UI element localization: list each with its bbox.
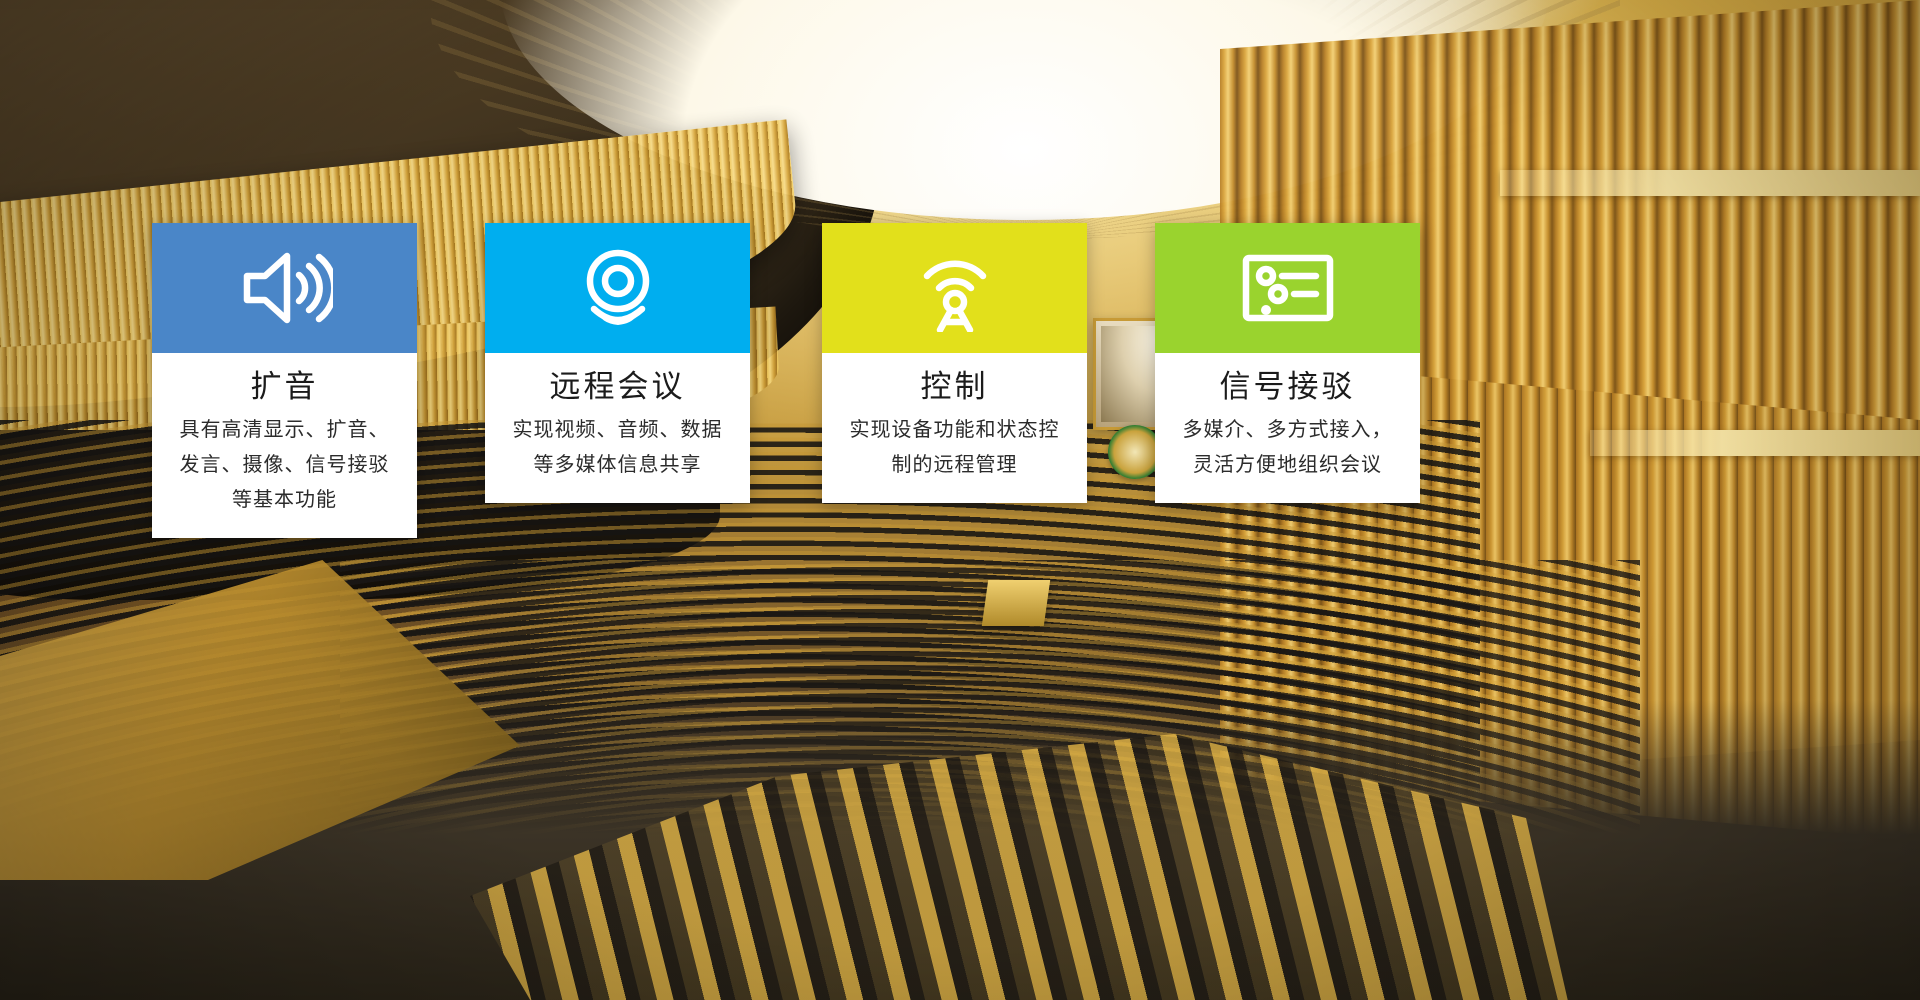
card-header-signal-connection: [1155, 223, 1420, 353]
card-body-signal-connection: 信号接驳 多媒介、多方式接入，灵活方便地组织会议: [1155, 353, 1420, 503]
feature-card-remote-conference[interactable]: 远程会议 实现视频、音频、数据等多媒体信息共享: [485, 223, 750, 503]
card-title: 信号接驳: [1173, 367, 1402, 407]
card-title: 扩音: [170, 367, 399, 407]
card-header-remote-conference: [485, 223, 750, 353]
card-title: 远程会议: [503, 367, 732, 407]
webcam-icon: [574, 245, 662, 331]
feature-card-amplification[interactable]: 扩音 具有高清显示、扩音、发言、摄像、信号接驳等基本功能: [152, 223, 417, 538]
feature-card-control[interactable]: 控制 实现设备功能和状态控制的远程管理: [822, 223, 1087, 503]
card-header-control: [822, 223, 1087, 353]
card-body-amplification: 扩音 具有高清显示、扩音、发言、摄像、信号接驳等基本功能: [152, 353, 417, 538]
speaker-volume-icon: [237, 245, 333, 331]
page-root: 扩音 具有高清显示、扩音、发言、摄像、信号接驳等基本功能 远程会议 实现视频、音: [0, 0, 1920, 1000]
feature-card-list: 扩音 具有高清显示、扩音、发言、摄像、信号接驳等基本功能 远程会议 实现视频、音: [0, 0, 1920, 1000]
signal-panel-icon: [1240, 250, 1336, 326]
card-body-remote-conference: 远程会议 实现视频、音频、数据等多媒体信息共享: [485, 353, 750, 503]
card-description: 具有高清显示、扩音、发言、摄像、信号接驳等基本功能: [170, 413, 399, 518]
feature-card-signal-connection[interactable]: 信号接驳 多媒介、多方式接入，灵活方便地组织会议: [1155, 223, 1420, 503]
card-description: 多媒介、多方式接入，灵活方便地组织会议: [1173, 413, 1402, 483]
card-description: 实现设备功能和状态控制的远程管理: [840, 413, 1069, 483]
card-description: 实现视频、音频、数据等多媒体信息共享: [503, 413, 732, 483]
card-body-control: 控制 实现设备功能和状态控制的远程管理: [822, 353, 1087, 503]
broadcast-antenna-icon: [914, 244, 996, 332]
card-header-amplification: [152, 223, 417, 353]
card-title: 控制: [840, 367, 1069, 407]
